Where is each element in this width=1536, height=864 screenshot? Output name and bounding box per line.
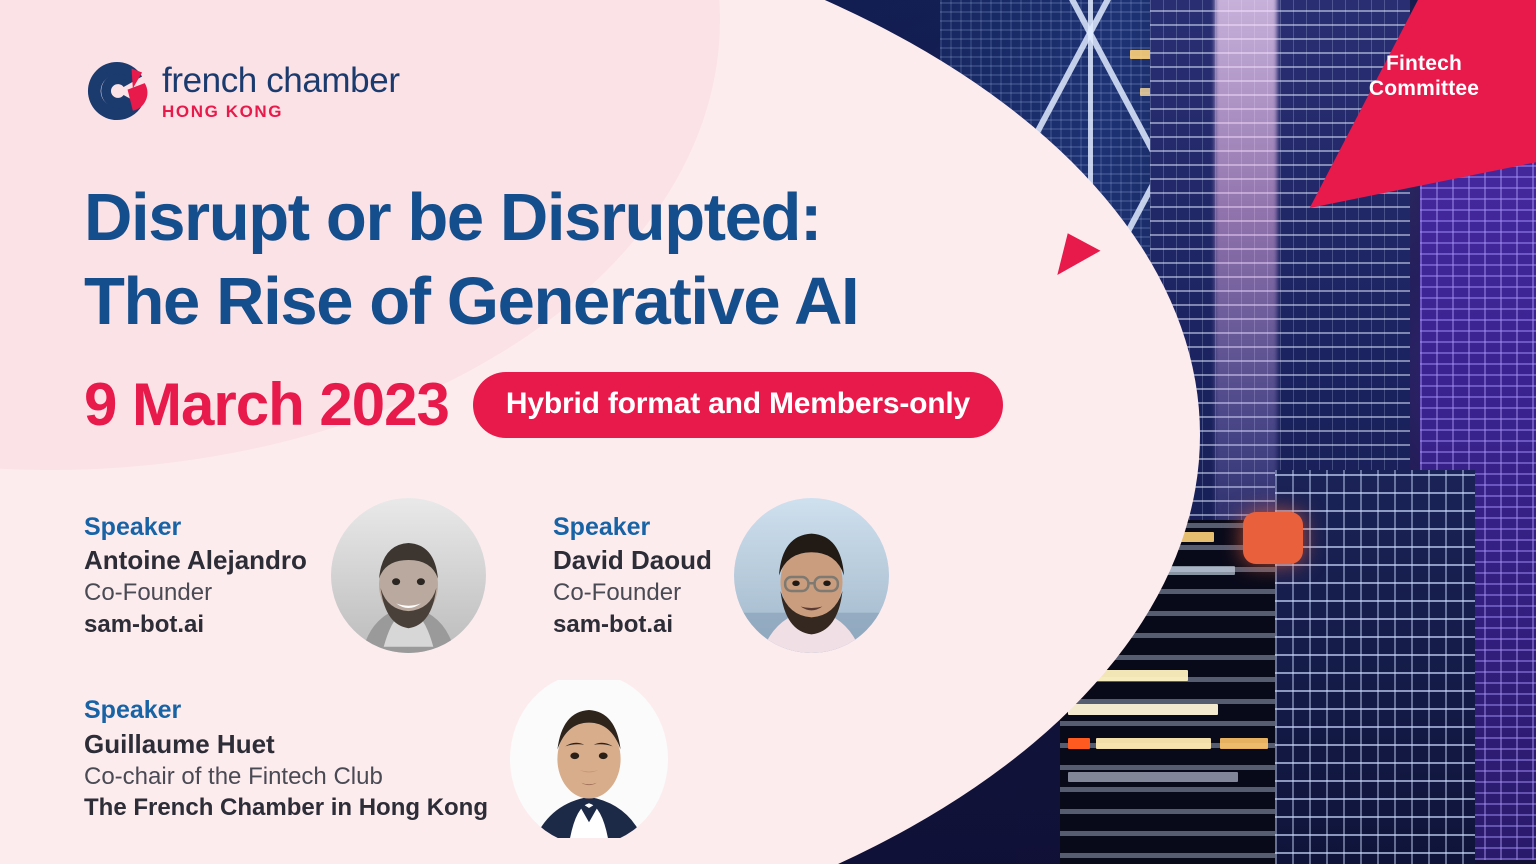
french-chamber-logo[interactable]: french chamber HONG KONG [84, 58, 400, 124]
event-poster: Fintech Committee french chamber HONG KO… [0, 0, 1536, 864]
speaker-role-label: Speaker [84, 511, 307, 544]
speaker-organisation: sam-bot.ai [84, 609, 307, 640]
avatar [510, 673, 668, 845]
page-title: Disrupt or be Disrupted: The Rise of Gen… [84, 176, 858, 345]
speaker-organisation: The French Chamber in Hong Kong [84, 792, 488, 823]
speaker-name: Antoine Alejandro [84, 543, 307, 577]
format-badge: Hybrid format and Members-only [473, 372, 1003, 438]
avatar [734, 498, 889, 653]
date-and-format-row: 9 March 2023 Hybrid format and Members-o… [84, 372, 1003, 438]
speaker-card-david-daoud: Speaker David Daoud Co-Founder sam-bot.a… [553, 498, 889, 653]
triangle-accent-icon [1057, 233, 1102, 283]
speaker-card-guillaume-huet: Speaker Guillaume Huet Co-chair of the F… [84, 673, 668, 845]
speaker-name: David Daoud [553, 543, 712, 577]
event-date: 9 March 2023 [84, 375, 449, 435]
logo-wordmark: french chamber [162, 63, 400, 98]
speaker-name: Guillaume Huet [84, 727, 488, 761]
french-chamber-cc-monogram-icon [84, 58, 150, 124]
speaker-card-antoine-alejandro: Speaker Antoine Alejandro Co-Founder sam… [84, 498, 486, 653]
speaker-position: Co-chair of the Fintech Club [84, 761, 488, 792]
speaker-role-label: Speaker [553, 511, 712, 544]
speaker-role-label: Speaker [84, 694, 488, 727]
speaker-position: Co-Founder [553, 577, 712, 608]
avatar [331, 498, 486, 653]
logo-location: HONG KONG [162, 103, 400, 120]
speaker-position: Co-Founder [84, 577, 307, 608]
speaker-organisation: sam-bot.ai [553, 609, 712, 640]
